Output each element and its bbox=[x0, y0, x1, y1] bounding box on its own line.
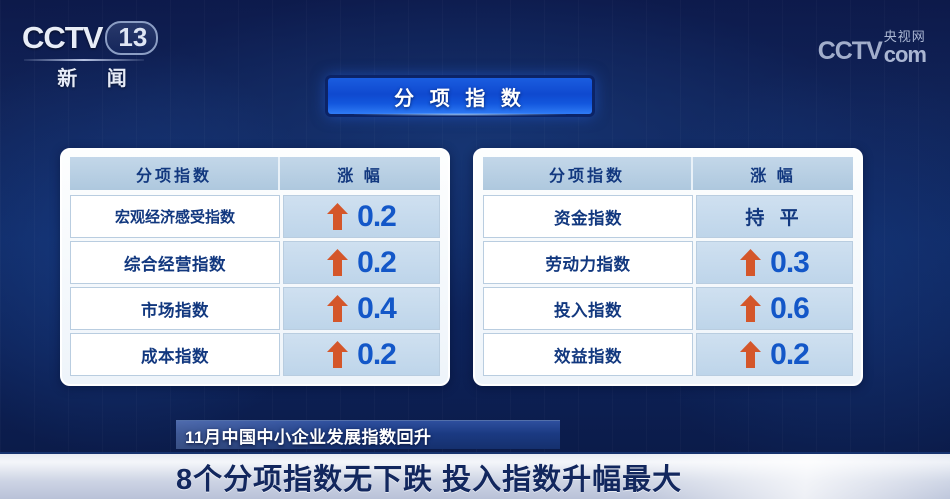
index-change-cell: 0.6 bbox=[696, 287, 853, 330]
table-row: 资金指数持 平 bbox=[483, 195, 853, 238]
website-cctv-wordmark: CCTV bbox=[818, 37, 882, 66]
sub-index-table-left: 分项指数 涨 幅 宏观经济感受指数0.2综合经营指数0.2市场指数0.4成本指数… bbox=[60, 148, 450, 386]
index-name-cell: 宏观经济感受指数 bbox=[70, 195, 280, 238]
channel-name-cn: 新 闻 bbox=[22, 62, 162, 91]
channel-logo-row: CCTV 13 bbox=[22, 20, 162, 56]
index-name-cell: 投入指数 bbox=[483, 287, 693, 330]
table-body-left: 宏观经济感受指数0.2综合经营指数0.2市场指数0.4成本指数0.2 bbox=[70, 195, 440, 376]
arrow-up-icon bbox=[327, 249, 348, 276]
index-change-value: 0.2 bbox=[357, 340, 396, 370]
broadcast-screen: CCTV 13 新 闻 CCTV 央视网 com 分 项 指 数 分项指数 涨 … bbox=[0, 0, 950, 499]
index-change-value: 0.2 bbox=[357, 202, 396, 232]
website-logo-stack: 央视网 com bbox=[884, 30, 926, 66]
index-name-cell: 劳动力指数 bbox=[483, 241, 693, 284]
headline-bar: 8个分项指数无下跌 投入指数升幅最大 bbox=[0, 452, 950, 499]
cctv-wordmark: CCTV bbox=[22, 20, 102, 56]
arrow-up-icon bbox=[327, 203, 348, 230]
table-header-name: 分项指数 bbox=[483, 157, 693, 190]
website-com-suffix: com bbox=[884, 44, 926, 66]
arrow-up-icon bbox=[740, 295, 761, 322]
channel-logo-underline bbox=[24, 59, 144, 61]
index-change-value: 持 平 bbox=[745, 203, 803, 230]
index-change-value: 0.3 bbox=[770, 248, 809, 278]
channel-logo: CCTV 13 新 闻 bbox=[22, 20, 162, 92]
index-change-cell: 0.2 bbox=[283, 241, 440, 284]
channel-number: 13 bbox=[105, 21, 158, 55]
arrow-up-icon bbox=[740, 341, 761, 368]
sub-index-table-right: 分项指数 涨 幅 资金指数持 平劳动力指数0.3投入指数0.6效益指数0.2 bbox=[473, 148, 863, 386]
arrow-up-icon bbox=[327, 341, 348, 368]
index-change-cell: 0.4 bbox=[283, 287, 440, 330]
title-banner: 分 项 指 数 bbox=[328, 78, 592, 114]
arrow-up-icon bbox=[740, 249, 761, 276]
table-header-row: 分项指数 涨 幅 bbox=[70, 157, 440, 190]
index-change-value: 0.2 bbox=[770, 340, 809, 370]
index-change-cell: 0.3 bbox=[696, 241, 853, 284]
table-header-name: 分项指数 bbox=[70, 157, 280, 190]
table-row: 市场指数0.4 bbox=[70, 287, 440, 330]
index-change-cell: 持 平 bbox=[696, 195, 853, 238]
table-row: 投入指数0.6 bbox=[483, 287, 853, 330]
index-name-cell: 综合经营指数 bbox=[70, 241, 280, 284]
index-change-cell: 0.2 bbox=[283, 195, 440, 238]
sub-headline-banner: 11月中国中小企业发展指数回升 bbox=[176, 420, 560, 449]
index-name-cell: 资金指数 bbox=[483, 195, 693, 238]
headline-text: 8个分项指数无下跌 投入指数升幅最大 bbox=[176, 456, 682, 498]
table-header-value: 涨 幅 bbox=[693, 157, 853, 190]
index-change-cell: 0.2 bbox=[283, 333, 440, 376]
page-title: 分 项 指 数 bbox=[394, 82, 526, 111]
sub-headline-text: 11月中国中小企业发展指数回升 bbox=[185, 423, 431, 448]
table-row: 宏观经济感受指数0.2 bbox=[70, 195, 440, 238]
table-row: 综合经营指数0.2 bbox=[70, 241, 440, 284]
arrow-up-icon bbox=[327, 295, 348, 322]
table-body-right: 资金指数持 平劳动力指数0.3投入指数0.6效益指数0.2 bbox=[483, 195, 853, 376]
website-logo: CCTV 央视网 com bbox=[818, 20, 926, 66]
table-header-row: 分项指数 涨 幅 bbox=[483, 157, 853, 190]
table-row: 成本指数0.2 bbox=[70, 333, 440, 376]
index-name-cell: 效益指数 bbox=[483, 333, 693, 376]
index-change-value: 0.2 bbox=[357, 248, 396, 278]
index-name-cell: 市场指数 bbox=[70, 287, 280, 330]
table-header-value: 涨 幅 bbox=[280, 157, 440, 190]
index-name-cell: 成本指数 bbox=[70, 333, 280, 376]
index-change-value: 0.4 bbox=[357, 294, 396, 324]
table-row: 劳动力指数0.3 bbox=[483, 241, 853, 284]
index-change-cell: 0.2 bbox=[696, 333, 853, 376]
table-row: 效益指数0.2 bbox=[483, 333, 853, 376]
index-change-value: 0.6 bbox=[770, 294, 809, 324]
